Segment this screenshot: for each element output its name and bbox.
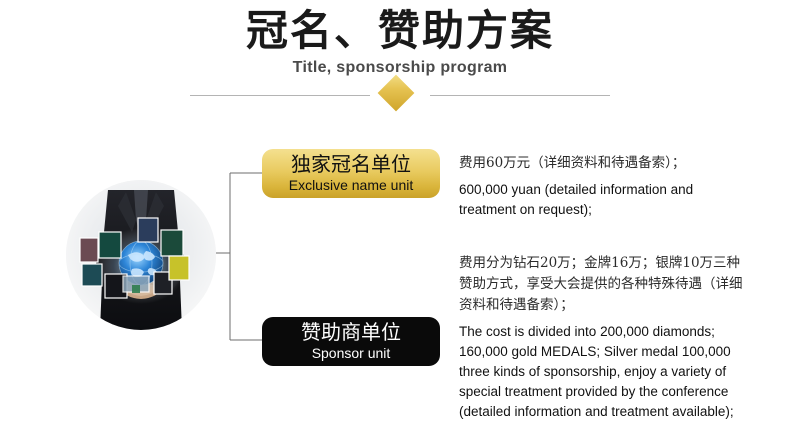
exclusive-name-detail-block: 费用60万元（详细资料和待遇备索）； 600,000 yuan (detaile…: [459, 153, 751, 220]
exclusive-name-unit-box[interactable]: 独家冠名单位 Exclusive name unit: [262, 149, 440, 198]
exclusive-name-detail-cn: 费用60万元（详细资料和待遇备索）；: [459, 153, 751, 174]
exclusive-name-unit-label-cn: 独家冠名单位: [262, 152, 440, 177]
sponsor-unit-box[interactable]: 赞助商单位 Sponsor unit: [262, 317, 440, 366]
sponsor-detail-block: 费用分为钻石20万；金牌16万；银牌10万三种赞助方式，享受大会提供的各种特殊待…: [459, 253, 751, 422]
exclusive-name-detail-en: 600,000 yuan (detailed information and t…: [459, 180, 751, 220]
exclusive-name-unit-label-en: Exclusive name unit: [262, 177, 440, 194]
page-subtitle-en: Title, sponsorship program: [0, 58, 800, 78]
sponsor-unit-label-cn: 赞助商单位: [262, 320, 440, 345]
slide-canvas: 冠名、赞助方案 Title, sponsorship program: [0, 0, 800, 448]
photo-illustration: [66, 180, 216, 330]
circular-photo: [66, 180, 216, 330]
sponsor-detail-en: The cost is divided into 200,000 diamond…: [459, 322, 751, 422]
sponsor-unit-label-en: Sponsor unit: [262, 345, 440, 362]
divider-line-right: [430, 95, 610, 96]
title-block: 冠名、赞助方案 Title, sponsorship program: [0, 6, 800, 78]
page-title-cn: 冠名、赞助方案: [0, 6, 800, 56]
divider-line-left: [190, 95, 370, 96]
sponsor-detail-cn: 费用分为钻石20万；金牌16万；银牌10万三种赞助方式，享受大会提供的各种特殊待…: [459, 253, 751, 316]
